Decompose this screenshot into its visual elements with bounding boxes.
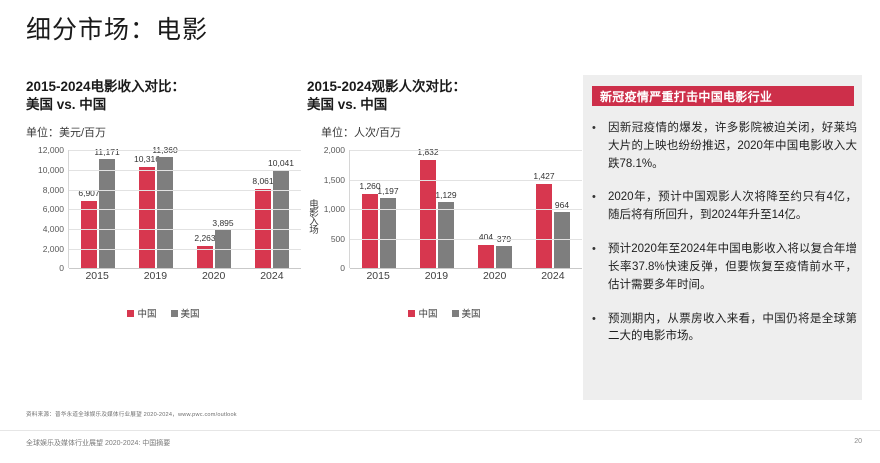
chart-title-revenue: 2015-2024电影收入对比： 美国 vs. 中国 (26, 78, 301, 114)
bullet-marker-icon: • (592, 189, 608, 225)
plot-grid-revenue: 6,90711,17110,31611,3602,2633,8958,06110… (68, 150, 301, 268)
footer-divider (0, 430, 880, 431)
bar-us: 964 (554, 212, 570, 269)
bar-us: 1,129 (438, 202, 454, 269)
x-tick-label: 2020 (466, 270, 524, 282)
x-axis-labels-revenue: 2015201920202024 (68, 270, 301, 282)
gridline (350, 180, 582, 181)
bar-cn: 1,260 (362, 194, 378, 268)
legend-revenue: 中国 美国 (26, 306, 301, 320)
legend-label-us: 美国 (462, 306, 481, 320)
bar-us: 11,360 (157, 157, 173, 269)
bar-value-label: 964 (555, 200, 569, 210)
slide-root: 细分市场：电影 2015-2024电影收入对比： 美国 vs. 中国 单位：美元… (0, 0, 880, 463)
x-tick-label: 2024 (243, 270, 301, 282)
legend-item-cn: 中国 (127, 306, 156, 320)
bullet-marker-icon: • (592, 311, 608, 347)
page-number: 20 (854, 438, 862, 445)
bar-value-label: 1,832 (417, 147, 438, 157)
y-tick-label: 2,000 (43, 244, 64, 254)
gridline (350, 150, 582, 151)
y-tick-label: 6,000 (43, 204, 64, 214)
plot-revenue: 02,0004,0006,0008,00010,00012,000 6,9071… (26, 150, 301, 280)
y-axis-ticks-revenue: 02,0004,0006,0008,00010,00012,000 (26, 150, 68, 268)
bar-value-label: 2,263 (194, 233, 215, 243)
bar-cn: 404 (478, 245, 494, 269)
bar-cn: 1,832 (420, 160, 436, 268)
source-note: 资料来源：普华永道全球娱乐及媒体行业展望 2020-2024，www.pwc.c… (26, 410, 237, 418)
chart-block-admissions: 2015-2024观影人次对比： 美国 vs. 中国 单位：人次/百万 电影入场… (307, 78, 582, 320)
bar-us: 10,041 (273, 170, 289, 269)
x-tick-label: 2024 (524, 270, 582, 282)
y-tick-label: 12,000 (38, 145, 64, 155)
gridline (350, 239, 582, 240)
x-tick-label: 2015 (68, 270, 126, 282)
y-tick-label: 4,000 (43, 224, 64, 234)
legend-swatch-us-icon (171, 310, 178, 317)
chart-unit-revenue: 单位：美元/百万 (26, 124, 301, 140)
bar-us: 379 (496, 246, 512, 268)
bar-value-label: 10,041 (268, 158, 294, 168)
gridline (69, 150, 301, 151)
gridline (69, 229, 301, 230)
gridline (350, 209, 582, 210)
bar-us: 1,197 (380, 198, 396, 269)
x-tick-label: 2019 (126, 270, 184, 282)
gridline (69, 170, 301, 171)
gridline (69, 268, 301, 269)
legend-item-us: 美国 (452, 306, 481, 320)
bar-cn: 10,316 (139, 167, 155, 268)
x-tick-label: 2015 (349, 270, 407, 282)
chart-block-revenue: 2015-2024电影收入对比： 美国 vs. 中国 单位：美元/百万 02,0… (26, 78, 301, 320)
bullet-marker-icon: • (592, 120, 608, 173)
legend-item-cn: 中国 (408, 306, 437, 320)
y-tick-label: 0 (59, 263, 64, 273)
footer-text: 全球娱乐及媒体行业展望 2020-2024: 中国摘要 (26, 438, 170, 448)
legend-label-us: 美国 (181, 306, 200, 320)
insight-bullet: •因新冠疫情的爆发，许多影院被迫关闭，好莱坞大片的上映也纷纷推迟，2020年中国… (592, 120, 857, 173)
chart-title-admissions: 2015-2024观影人次对比： 美国 vs. 中国 (307, 78, 582, 114)
bar-value-label: 11,171 (94, 147, 119, 157)
legend-swatch-cn-icon (408, 310, 415, 317)
bar-value-label: 8,061 (252, 176, 273, 186)
y-tick-label: 1,000 (324, 204, 345, 214)
insight-bullet-text: 预测期内，从票房收入来看，中国仍将是全球第二大的电影市场。 (608, 311, 857, 347)
bar-cn: 1,427 (536, 184, 552, 268)
insight-bullet: •预计2020年至2024年中国电影收入将以复合年增长率37.8%快速反弹，但要… (592, 241, 857, 294)
legend-swatch-us-icon (452, 310, 459, 317)
y-tick-label: 8,000 (43, 185, 64, 195)
legend-swatch-cn-icon (127, 310, 134, 317)
plot-grid-admissions: 1,2601,1971,8321,1294043791,427964 (349, 150, 582, 268)
y-tick-label: 0 (340, 263, 345, 273)
gridline (350, 268, 582, 269)
insight-bullet-list: •因新冠疫情的爆发，许多影院被迫关闭，好莱坞大片的上映也纷纷推迟，2020年中国… (592, 120, 857, 362)
y-axis-ticks-admissions: 05001,0001,5002,000 (307, 150, 349, 268)
legend-admissions: 中国 美国 (307, 306, 582, 320)
insight-bullet: •2020年，预计中国观影人次将降至约只有4亿，随后将有所回升，到2024年升至… (592, 189, 857, 225)
insight-panel-header: 新冠疫情严重打击中国电影行业 (592, 86, 854, 106)
insight-panel-header-label: 新冠疫情严重打击中国电影行业 (600, 88, 772, 105)
insight-bullet: •预测期内，从票房收入来看，中国仍将是全球第二大的电影市场。 (592, 311, 857, 347)
bar-value-label: 1,129 (435, 190, 456, 200)
legend-label-cn: 中国 (137, 306, 156, 320)
plot-admissions: 电影入场 05001,0001,5002,000 1,2601,1971,832… (307, 150, 582, 280)
bar-us: 11,171 (99, 159, 115, 269)
bar-value-label: 1,197 (377, 186, 398, 196)
y-tick-label: 500 (331, 234, 345, 244)
bullet-marker-icon: • (592, 241, 608, 294)
insight-bullet-text: 2020年，预计中国观影人次将降至约只有4亿，随后将有所回升，到2024年升至1… (608, 189, 857, 225)
gridline (69, 209, 301, 210)
insight-bullet-text: 因新冠疫情的爆发，许多影院被迫关闭，好莱坞大片的上映也纷纷推迟，2020年中国电… (608, 120, 857, 173)
legend-item-us: 美国 (171, 306, 200, 320)
x-tick-label: 2020 (185, 270, 243, 282)
legend-label-cn: 中国 (418, 306, 437, 320)
gridline (69, 249, 301, 250)
x-axis-labels-admissions: 2015201920202024 (349, 270, 582, 282)
bar-value-label: 3,895 (212, 218, 233, 228)
y-tick-label: 2,000 (324, 145, 345, 155)
insight-panel: 新冠疫情严重打击中国电影行业 •因新冠疫情的爆发，许多影院被迫关闭，好莱坞大片的… (583, 75, 862, 400)
x-tick-label: 2019 (407, 270, 465, 282)
insight-bullet-text: 预计2020年至2024年中国电影收入将以复合年增长率37.8%快速反弹，但要恢… (608, 241, 857, 294)
chart-unit-admissions: 单位：人次/百万 (321, 124, 582, 140)
bar-value-label: 404 (479, 232, 493, 242)
y-tick-label: 10,000 (38, 165, 64, 175)
gridline (69, 190, 301, 191)
page-title: 细分市场：电影 (26, 10, 208, 46)
y-tick-label: 1,500 (324, 175, 345, 185)
bar-cn: 6,907 (81, 201, 97, 269)
